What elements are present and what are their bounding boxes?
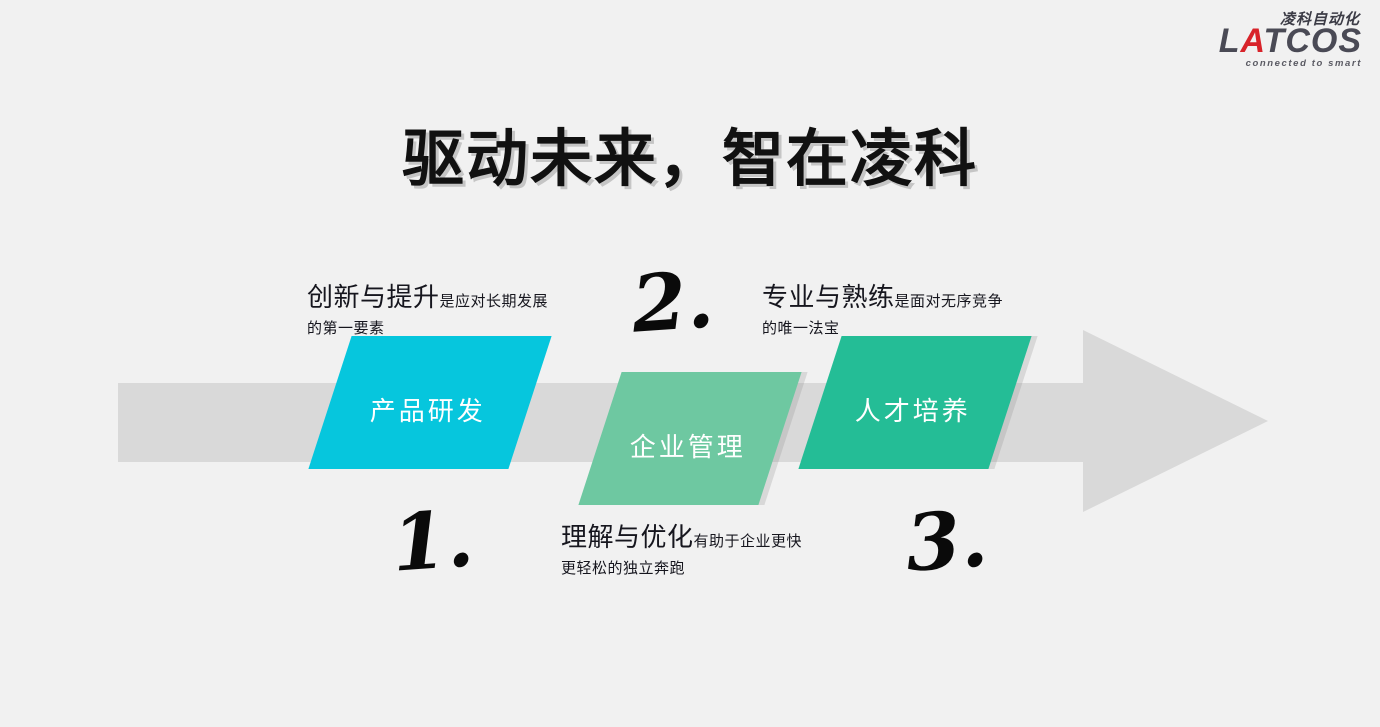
logo-wordmark-suffix: TCOS — [1264, 22, 1362, 60]
step-number-1: 1. — [389, 500, 476, 583]
arrow-head-icon — [1083, 330, 1268, 512]
logo-tagline: connected to smart — [1192, 59, 1362, 69]
slide-canvas: 凌科自动化 LATCOS connected to smart 驱动未来，智在凌… — [0, 0, 1380, 727]
step-shape-label-1: 产品研发 — [328, 391, 528, 428]
page-title: 驱动未来，智在凌科 — [0, 108, 1380, 198]
callout-heading-3: 专业与熟练 — [762, 282, 895, 312]
step-shape-label-3: 人才培养 — [818, 391, 1008, 428]
latcos-logo: 凌科自动化 LATCOS connected to smart — [1192, 12, 1362, 74]
logo-wordmark: LATCOS — [1192, 25, 1362, 58]
logo-wordmark-accent: A — [1241, 22, 1264, 60]
callout-heading-1: 创新与提升 — [307, 282, 440, 312]
callout-2: 理解与优化有助于企业更快更轻松的独立奔跑 — [561, 519, 813, 580]
step-number-3: 3. — [903, 500, 990, 583]
callout-1: 创新与提升是应对长期发展的第一要素 — [307, 279, 552, 340]
callout-3: 专业与熟练是面对无序竞争的唯一法宝 — [762, 279, 1010, 340]
step-shape-label-2: 企业管理 — [598, 427, 778, 464]
callout-heading-2: 理解与优化 — [561, 522, 694, 552]
step-number-2: 2. — [629, 261, 716, 344]
logo-wordmark-prefix: L — [1219, 22, 1241, 60]
